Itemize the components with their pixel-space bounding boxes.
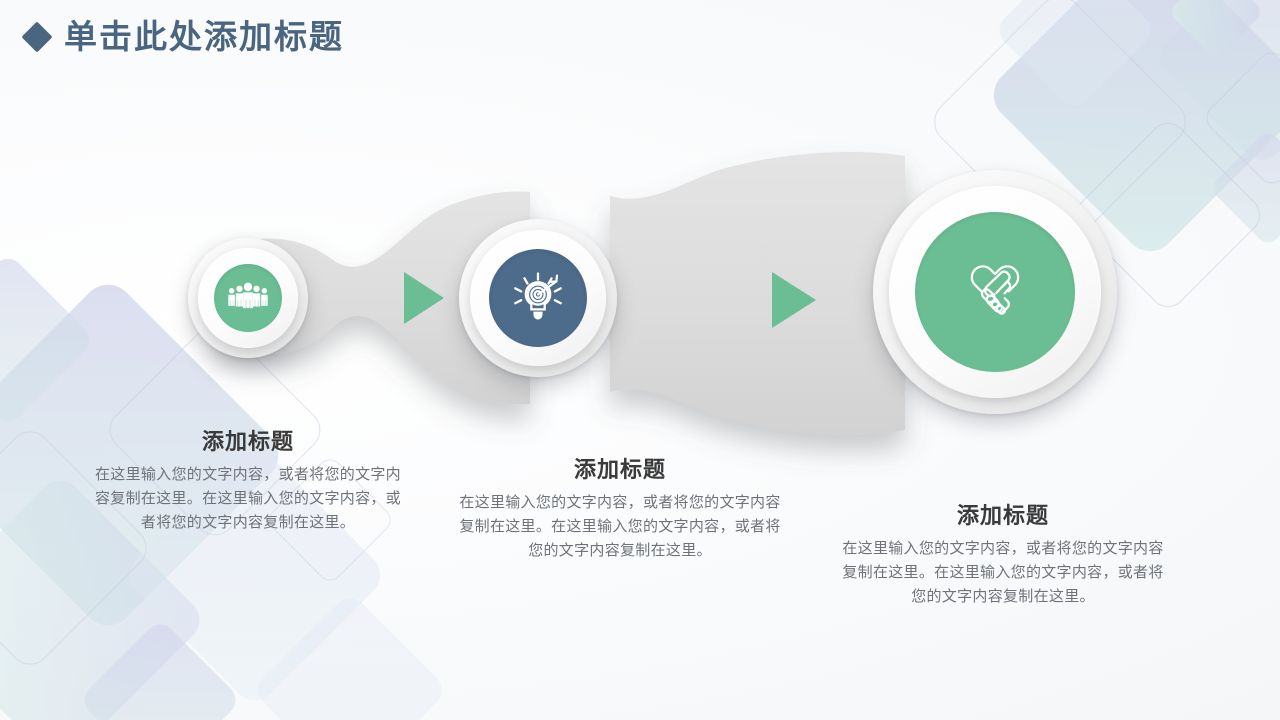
node-color-disc (915, 212, 1075, 372)
lightbulb-target-icon (510, 270, 566, 326)
node-color-disc (214, 264, 282, 332)
slide-header: 单击此处添加标题 (26, 20, 344, 53)
slide-canvas: 添加标题 在这里输入您的文字内容，或者将您的文字内容复制在这里。在这里输入您的文… (0, 0, 1280, 720)
step-title: 添加标题 (455, 456, 785, 485)
step-text-block-1: 添加标题 在这里输入您的文字内容，或者将您的文字内容复制在这里。在这里输入您的文… (88, 428, 408, 535)
handshake-heart-icon (952, 254, 1038, 330)
people-group-icon (227, 281, 269, 315)
arrow-step-1-to-2 (404, 272, 444, 324)
process-node-1[interactable] (188, 238, 308, 358)
step-title: 添加标题 (88, 428, 408, 457)
page-title: 单击此处添加标题 (64, 20, 344, 53)
step-body: 在这里输入您的文字内容，或者将您的文字内容复制在这里。在这里输入您的文字内容，或… (455, 491, 785, 563)
step-body: 在这里输入您的文字内容，或者将您的文字内容复制在这里。在这里输入您的文字内容，或… (838, 537, 1168, 609)
process-node-3[interactable] (873, 170, 1117, 414)
node-color-disc (489, 249, 587, 347)
process-node-2[interactable] (459, 219, 617, 377)
step-title: 添加标题 (838, 502, 1168, 531)
step-text-block-2: 添加标题 在这里输入您的文字内容，或者将您的文字内容复制在这里。在这里输入您的文… (455, 456, 785, 563)
step-body: 在这里输入您的文字内容，或者将您的文字内容复制在这里。在这里输入您的文字内容，或… (88, 463, 408, 535)
diamond-icon (21, 21, 52, 52)
arrow-step-2-to-3 (772, 272, 816, 328)
step-text-block-3: 添加标题 在这里输入您的文字内容，或者将您的文字内容复制在这里。在这里输入您的文… (838, 502, 1168, 609)
